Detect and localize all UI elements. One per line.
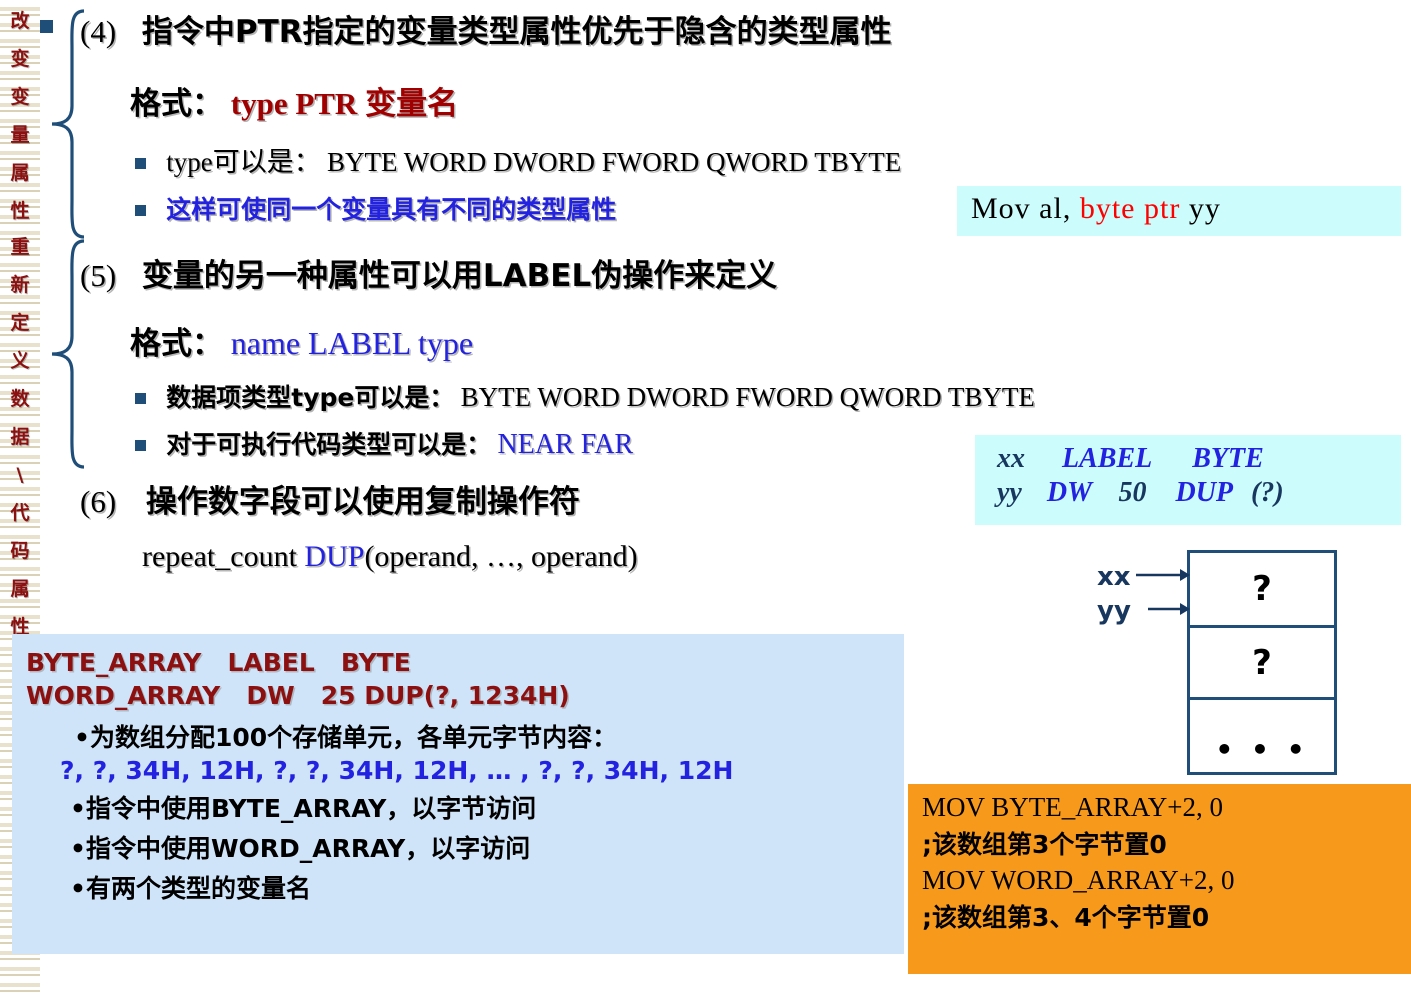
sidebar-char: 变 <box>0 40 40 78</box>
callout-yy-name: yy <box>997 477 1022 508</box>
orange-line-2: MOV WORD_ARRAY+2, 0 <box>908 861 1411 896</box>
item4-format-label: 格式： <box>130 86 223 122</box>
bullet-square-icon <box>135 158 146 169</box>
item6-text: 操作数字段可以使用复制操作符 <box>146 484 580 520</box>
item6-number: (6) <box>80 484 116 519</box>
callout-xx-type: BYTE <box>1192 443 1264 474</box>
item5-format-line: 格式： name LABEL type <box>130 318 473 363</box>
sidebar-char: 数 <box>0 380 40 418</box>
blue-bullet-0: •指令中使用BYTE_ARRAY，以字节访问 <box>12 785 904 825</box>
item4-number: (4) <box>80 14 116 49</box>
memory-label-xx: xx <box>1097 562 1131 592</box>
sidebar-char: 义 <box>0 342 40 380</box>
blue-code-line-0: BYTE_ARRAY LABEL BYTE <box>12 634 904 677</box>
callout-mov-byte-ptr: Mov al, byte ptr yy <box>957 186 1401 236</box>
item5-number: (5) <box>80 258 116 293</box>
blue-code-line-1: WORD_ARRAY DW 25 DUP(?, 1234H) <box>12 677 904 710</box>
item5-bullet-0-prefix: 数据项类型type可以是： <box>166 383 454 412</box>
bullet-square-icon <box>135 440 146 451</box>
item4-bullet-0-value: BYTE WORD DWORD FWORD QWORD TBYTE <box>327 147 901 177</box>
item6-syntax-dup: DUP <box>304 540 364 573</box>
sidebar-label-redefine-attr: 重 新 定 义 数 据 \ 代 码 属 性 <box>0 228 40 646</box>
sidebar-char: 属 <box>0 570 40 608</box>
blue-hex-line: ?, ?, 34H, 12H, ?, ?, 34H, 12H, … , ?, ?… <box>12 754 904 785</box>
sidebar-char: 新 <box>0 266 40 304</box>
item5-bullet-1-prefix: 对于可执行代码类型可以是： <box>166 430 491 459</box>
orange-line-3: ;该数组第3、4个字节置0 <box>908 896 1411 934</box>
blue-bullet-1: •指令中使用WORD_ARRAY，以字访问 <box>12 825 904 865</box>
blue-note-line: •为数组分配100个存储单元，各单元字节内容： <box>12 710 904 754</box>
memory-cell-1: ? <box>1190 628 1334 700</box>
item4-bullet-1: 这样可使同一个变量具有不同的类型属性 <box>135 190 616 226</box>
item5-bullet-0: 数据项类型type可以是： BYTE WORD DWORD FWORD QWOR… <box>135 378 1035 414</box>
memory-layout-table: ? ? • • • <box>1187 550 1337 775</box>
item5-text: 变量的另一种属性可以用LABEL伪操作来定义 <box>142 258 777 294</box>
arrow-xx-icon <box>1136 566 1191 589</box>
item6-syntax-pre: repeat_count <box>142 540 304 573</box>
item6-syntax-post: (operand, …, operand) <box>364 540 637 573</box>
callout-xx-op: LABEL <box>1062 443 1151 474</box>
memory-cell-0: ? <box>1190 553 1334 628</box>
callout-mov-part3: yy <box>1180 192 1221 225</box>
item5-bullet-0-value: BYTE WORD DWORD FWORD QWORD TBYTE <box>461 382 1035 412</box>
bullet-square-icon <box>135 393 146 404</box>
sidebar-char: 改 <box>0 2 40 40</box>
callout-xx-name: xx <box>997 443 1025 474</box>
callout-yy-dup: DUP <box>1175 477 1232 508</box>
item4-bullet-1-prefix: 这样可使同一个变量具有不同的类型属性 <box>166 195 616 224</box>
item4-format-line: 格式： type PTR 变量名 <box>130 78 458 123</box>
callout-mov-part2: byte ptr <box>1080 192 1180 225</box>
orange-line-1: ;该数组第3个字节置0 <box>908 823 1411 861</box>
callout-yy-op: DW <box>1047 477 1092 508</box>
item6-syntax-line: repeat_count DUP(operand, …, operand) <box>142 540 638 574</box>
callout-yy-count: 50 <box>1118 477 1146 508</box>
blue-example-panel: BYTE_ARRAY LABEL BYTE WORD_ARRAY DW 25 D… <box>12 634 904 954</box>
blue-bullet-2: •有两个类型的变量名 <box>12 865 904 905</box>
item6-heading: (6) 操作数字段可以使用复制操作符 <box>80 476 580 521</box>
item4-format-value: type PTR 变量名 <box>231 86 458 121</box>
item5-heading: (5) 变量的另一种属性可以用LABEL伪操作来定义 <box>80 250 777 295</box>
item4-text: 指令中PTR指定的变量类型属性优先于隐含的类型属性 <box>142 14 892 50</box>
orange-example-panel: MOV BYTE_ARRAY+2, 0 ;该数组第3个字节置0 MOV WORD… <box>908 784 1411 974</box>
sidebar-char: 码 <box>0 532 40 570</box>
sidebar-char: 定 <box>0 304 40 342</box>
sidebar-label-change-attr: 改 变 变 量 属 性 <box>0 2 40 230</box>
callout-mov-part1: Mov al, <box>971 192 1080 225</box>
item4-bullet-0-prefix: type可以是： <box>166 147 321 177</box>
item5-format-label: 格式： <box>130 326 223 362</box>
callout-label-definition: xx LABEL BYTE yy DW 50 DUP (?) <box>975 435 1401 525</box>
sidebar-char: 性 <box>0 192 40 230</box>
memory-label-yy: yy <box>1097 596 1131 626</box>
sidebar-char: 量 <box>0 116 40 154</box>
sidebar-char: 重 <box>0 228 40 266</box>
sidebar-char: 属 <box>0 154 40 192</box>
memory-cell-2: • • • <box>1190 700 1334 772</box>
orange-line-0: MOV BYTE_ARRAY+2, 0 <box>908 784 1411 823</box>
sidebar-char: 据 <box>0 418 40 456</box>
item4-heading: (4) 指令中PTR指定的变量类型属性优先于隐含的类型属性 <box>80 6 892 51</box>
item5-bullet-1-value: NEAR FAR <box>498 429 634 460</box>
item5-format-value: name LABEL type <box>231 325 473 361</box>
sidebar-char: 变 <box>0 78 40 116</box>
item4-bullet-0: type可以是： BYTE WORD DWORD FWORD QWORD TBY… <box>135 140 901 179</box>
item5-bullet-1: 对于可执行代码类型可以是： NEAR FAR <box>135 425 633 461</box>
arrow-yy-icon <box>1148 600 1191 623</box>
sidebar-char: 代 <box>0 494 40 532</box>
callout-yy-operand: (?) <box>1251 477 1284 508</box>
sidebar-char: \ <box>0 456 40 494</box>
bullet-square-icon <box>135 205 146 216</box>
